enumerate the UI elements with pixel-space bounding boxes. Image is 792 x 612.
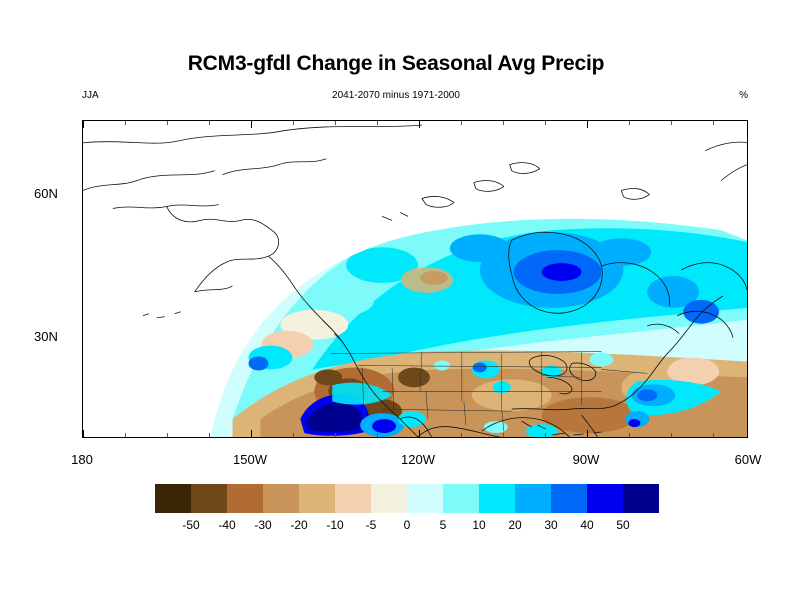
x-tick-top-minor xyxy=(671,121,672,125)
x-tick-top-major xyxy=(83,121,84,128)
colorbar-cell-9 xyxy=(479,484,515,513)
x-tick-top-minor xyxy=(713,121,714,125)
colorbar-cell-8 xyxy=(443,484,479,513)
colorbar-cell-6 xyxy=(371,484,407,513)
colorbar-cell-10 xyxy=(515,484,551,513)
x-tick-top-minor xyxy=(629,121,630,125)
colorbar xyxy=(155,484,659,513)
x-axis-label-4: 60W xyxy=(735,452,762,467)
y-axis-label-0: 60N xyxy=(34,186,58,201)
x-tick-minor xyxy=(671,433,672,437)
y-tick-minor xyxy=(82,290,83,291)
map-plot-area xyxy=(82,120,748,438)
data-layer xyxy=(83,121,747,437)
y-tick-major xyxy=(82,194,83,195)
colorbar-cell-11 xyxy=(551,484,587,513)
x-tick-top-minor xyxy=(377,121,378,125)
x-tick-minor xyxy=(335,433,336,437)
x-axis-label-0: 180 xyxy=(71,452,93,467)
x-tick-minor xyxy=(125,433,126,437)
x-tick-major xyxy=(251,430,252,437)
x-tick-minor xyxy=(503,433,504,437)
colorbar-cell-0 xyxy=(155,484,191,513)
x-tick-minor xyxy=(713,433,714,437)
colorbar-cell-4 xyxy=(299,484,335,513)
x-tick-top-major xyxy=(251,121,252,128)
x-tick-minor xyxy=(545,433,546,437)
colorbar-cell-7 xyxy=(407,484,443,513)
colorbar-cell-5 xyxy=(335,484,371,513)
units-label: % xyxy=(0,90,748,101)
x-tick-major xyxy=(747,430,748,437)
x-tick-major xyxy=(587,430,588,437)
y-tick-right-major xyxy=(747,194,748,195)
y-tick-major xyxy=(82,337,83,338)
colorbar-tick-5: -5 xyxy=(366,518,377,532)
colorbar-cell-3 xyxy=(263,484,299,513)
colorbar-cell-2 xyxy=(227,484,263,513)
x-tick-top-minor xyxy=(335,121,336,125)
x-tick-minor xyxy=(293,433,294,437)
x-tick-minor xyxy=(167,433,168,437)
y-tick-right-major xyxy=(747,337,748,338)
x-tick-major xyxy=(83,430,84,437)
colorbar-tick-8: 10 xyxy=(472,518,485,532)
x-tick-top-minor xyxy=(125,121,126,125)
colorbar-cell-13 xyxy=(623,484,659,513)
y-tick-right-minor xyxy=(747,290,748,291)
colorbar-tick-12: 50 xyxy=(616,518,629,532)
x-tick-minor xyxy=(629,433,630,437)
x-tick-top-minor xyxy=(461,121,462,125)
y-tick-minor xyxy=(82,242,83,243)
page-title: RCM3-gfdl Change in Seasonal Avg Precip xyxy=(0,52,792,76)
colorbar-tick-9: 20 xyxy=(508,518,521,532)
x-tick-minor xyxy=(377,433,378,437)
map-canvas xyxy=(83,121,747,437)
colorbar-tick-6: 0 xyxy=(404,518,411,532)
colorbar-tick-7: 5 xyxy=(440,518,447,532)
x-axis-label-1: 150W xyxy=(233,452,267,467)
colorbar-tick-0: -50 xyxy=(182,518,199,532)
y-axis-label-1: 30N xyxy=(34,329,58,344)
colorbar-cell-12 xyxy=(587,484,623,513)
colorbar-tick-4: -10 xyxy=(326,518,343,532)
x-tick-major xyxy=(419,430,420,437)
y-tick-minor xyxy=(82,147,83,148)
x-tick-top-minor xyxy=(293,121,294,125)
colorbar-tick-3: -20 xyxy=(290,518,307,532)
x-tick-top-minor xyxy=(167,121,168,125)
x-tick-minor xyxy=(461,433,462,437)
colorbar-tick-1: -40 xyxy=(218,518,235,532)
colorbar-tick-2: -30 xyxy=(254,518,271,532)
y-tick-right-minor xyxy=(747,242,748,243)
figure-root: RCM3-gfdl Change in Seasonal Avg Precip … xyxy=(0,0,792,612)
x-tick-top-minor xyxy=(545,121,546,125)
colorbar-tick-10: 30 xyxy=(544,518,557,532)
x-axis-label-2: 120W xyxy=(401,452,435,467)
x-axis-label-3: 90W xyxy=(573,452,600,467)
x-tick-minor xyxy=(209,433,210,437)
colorbar-tick-11: 40 xyxy=(580,518,593,532)
x-tick-top-major xyxy=(419,121,420,128)
x-tick-top-minor xyxy=(503,121,504,125)
colorbar-cell-1 xyxy=(191,484,227,513)
x-tick-top-major xyxy=(587,121,588,128)
x-tick-top-minor xyxy=(209,121,210,125)
y-tick-minor xyxy=(82,385,83,386)
